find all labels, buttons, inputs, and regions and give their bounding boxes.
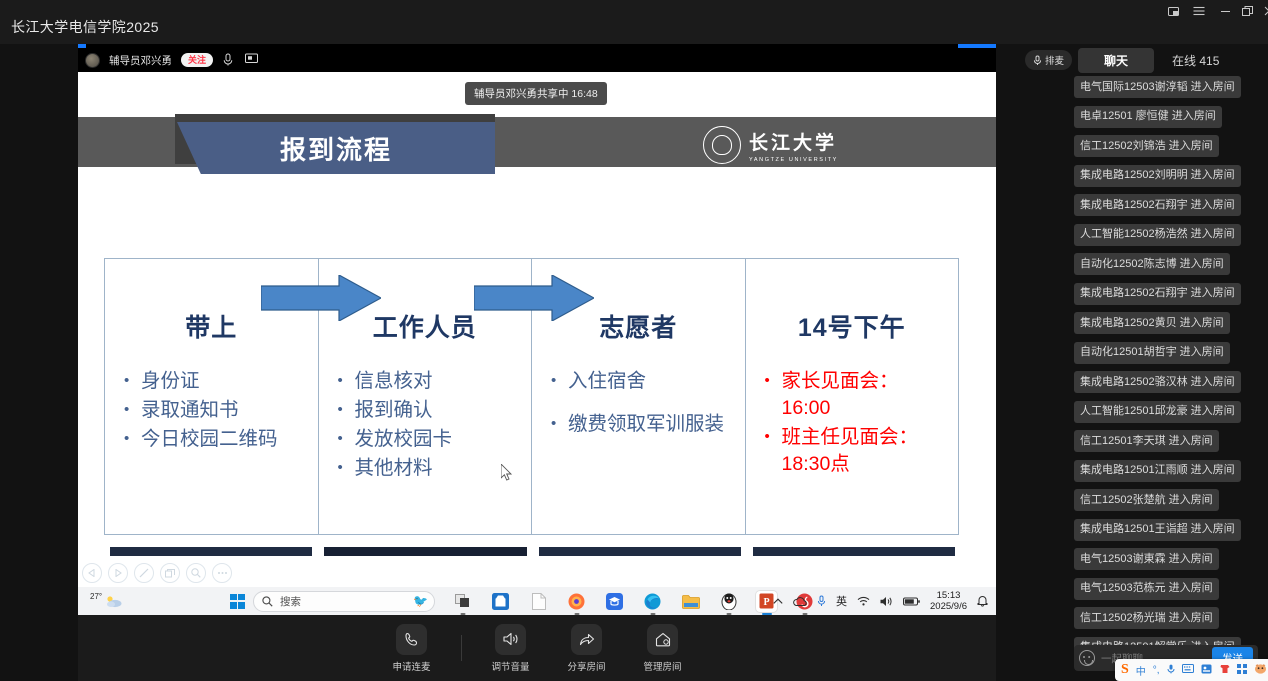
shared-screen-stage: 辅导员邓兴勇 关注 辅导员邓兴勇共享中 16:48 报到流程 长江大学 YANG… (78, 44, 996, 587)
notification-bell-icon[interactable] (977, 595, 988, 607)
chat-message: 集成电路12502骆汉林 进入房间 (1074, 371, 1241, 393)
chat-message: 集成电路12502石翔宇 进入房间 (1074, 283, 1241, 305)
title-bar: 长江大学电信学院2025 (0, 0, 1268, 44)
chat-message: 集成电路12502黄贝 进入房间 (1074, 312, 1230, 334)
sogou-logo-icon[interactable]: S (1121, 662, 1129, 678)
request-mic-button[interactable]: 申请连麦 (381, 624, 443, 673)
bottom-bar-segment (539, 547, 741, 556)
svg-text:P: P (763, 597, 769, 608)
chat-message-row: 电气国际12503谢淳韬 进入房间 (1074, 76, 1264, 106)
chat-tabs: 聊天 在线 415 (1078, 48, 1219, 73)
column-heading: 14号下午 (760, 308, 945, 344)
list-item: 报到确认 (355, 397, 518, 424)
bottom-bar-segment (110, 547, 312, 556)
microphone-icon[interactable] (817, 595, 826, 607)
taskbar-app-edge[interactable] (642, 591, 663, 612)
windows-taskbar: 27° 搜索 🐦 (78, 587, 996, 615)
flow-column-3: 志愿者 入住宿舍 缴费领取军训服装 (532, 259, 746, 534)
chat-message-row: 信工12502刘锦浩 进入房间 (1074, 135, 1264, 165)
flow-column-4: 14号下午 家长见面会：16:00 班主任见面会：18:30点 (746, 259, 959, 534)
chat-message: 电气12503范栋元 进入房间 (1074, 578, 1219, 600)
chat-panel: 排麦 聊天 在线 415 电气国际12503谢淳韬 进入房间电卓12501 廖恒… (996, 44, 1268, 681)
ime-mascot-icon[interactable] (1254, 663, 1267, 677)
button-label: 管理房间 (643, 659, 681, 673)
chat-message-row: 信工12502杨光瑞 进入房间 (1074, 607, 1264, 637)
list-item: 发放校园卡 (355, 426, 518, 453)
presenter-name: 辅导员邓兴勇 (109, 53, 172, 68)
chat-message: 电气国际12503谢淳韬 进入房间 (1074, 76, 1241, 98)
window-title: 长江大学电信学院2025 (11, 17, 159, 37)
chat-message-row: 信工12502张楚航 进入房间 (1074, 489, 1264, 519)
chat-message: 信工12502张楚航 进入房间 (1074, 489, 1219, 511)
list-item: 班主任见面会：18:30点 (782, 424, 945, 478)
flow-arrow-1 (261, 275, 381, 321)
meeting-app-window: 长江大学电信学院2025 辅导员邓兴勇 关注 (0, 0, 1268, 681)
onedrive-icon[interactable] (793, 597, 807, 606)
emoji-icon[interactable] (1079, 650, 1095, 666)
chat-message-row: 电气12503谢東霖 进入房间 (1074, 548, 1264, 578)
chevron-up-icon[interactable] (773, 598, 783, 605)
list-item: 家长见面会：16:00 (782, 368, 945, 422)
chat-message: 集成电路12501王诣超 进入房间 (1074, 519, 1241, 541)
weather-temperature: 27° (90, 592, 102, 601)
chat-message-row: 电气12503范栋元 进入房间 (1074, 578, 1264, 608)
chat-message: 电卓12501 廖恒健 进入房间 (1074, 106, 1222, 128)
taskbar-app-file-explorer[interactable] (680, 591, 701, 612)
chat-message-row: 人工智能12501邱龙豪 进入房间 (1074, 401, 1264, 431)
ime-keyboard-icon[interactable] (1182, 664, 1194, 676)
button-label: 申请连麦 (392, 659, 430, 673)
battery-icon[interactable] (903, 597, 920, 606)
slideshow-controls (82, 563, 232, 583)
sharing-status-toast: 辅导员邓兴勇共享中 16:48 (465, 82, 607, 105)
taskbar-app-task-view[interactable] (452, 591, 473, 612)
chat-message-row: 人工智能12502杨浩然 进入房间 (1074, 224, 1264, 254)
search-icon (262, 596, 273, 607)
share-icon (571, 624, 602, 655)
university-logo: 长江大学 YANGTZE UNIVERSITY (703, 126, 838, 164)
chat-message-row: 集成电路12502石翔宇 进入房间 (1074, 283, 1264, 313)
chat-message-row: 集成电路12502刘明明 进入房间 (1074, 165, 1264, 195)
ime-tools-icon[interactable] (1201, 664, 1212, 677)
chat-message-row: 集成电路12502黄贝 进入房间 (1074, 312, 1264, 342)
prev-slide-button[interactable] (82, 563, 102, 583)
list-item: 信息核对 (355, 368, 518, 395)
mic-queue-button[interactable]: 排麦 (1025, 50, 1072, 70)
chat-message: 信工12502杨光瑞 进入房间 (1074, 607, 1219, 629)
university-name-cn: 长江大学 (749, 128, 838, 155)
ime-indicator[interactable]: 英 (836, 593, 847, 609)
taskbar-app-firefox[interactable] (566, 591, 587, 612)
volume-icon[interactable] (880, 596, 893, 607)
column-items: 入住宿舍 缴费领取军训服装 (546, 368, 731, 438)
chat-message: 集成电路12502石翔宇 进入房间 (1074, 194, 1241, 216)
toolbar-divider (461, 635, 462, 661)
taskbar-app-notepad[interactable] (528, 591, 549, 612)
process-flow-table: 带上 身份证 录取通知书 今日校园二维码 工作人员 信息核对 报到确认 (104, 258, 959, 535)
chat-message: 信工12502刘锦浩 进入房间 (1074, 135, 1219, 157)
list-item: 其他材料 (355, 455, 518, 482)
wifi-icon[interactable] (857, 596, 870, 606)
chat-message-row: 集成电路12502石翔宇 进入房间 (1074, 194, 1264, 224)
chat-message: 自动化12502陈志博 进入房间 (1074, 253, 1230, 275)
search-input[interactable]: 搜索 🐦 (253, 591, 435, 612)
ime-skin-icon[interactable] (1219, 664, 1230, 677)
cloud-sun-icon (105, 594, 124, 608)
tab-online[interactable]: 在线 415 (1172, 52, 1219, 69)
slide-bottom-bars (110, 547, 955, 556)
all-slides-icon[interactable] (160, 563, 180, 583)
microphone-icon (1033, 55, 1042, 66)
ime-voice-icon[interactable] (1167, 664, 1175, 677)
mouse-cursor (501, 464, 514, 482)
microphone-icon[interactable] (222, 53, 236, 67)
taskbar-app-microsoft-store[interactable] (490, 591, 511, 612)
pen-tool-icon[interactable] (134, 563, 154, 583)
taskbar-center-group: 搜索 🐦 (230, 591, 815, 612)
bird-illustration-icon: 🐦 (413, 594, 428, 608)
queue-label: 排麦 (1045, 53, 1064, 67)
ime-floating-toolbar: S 中 °, (1115, 659, 1268, 681)
clock-date: 2025/9/6 (930, 601, 967, 612)
list-item: 今日校园二维码 (141, 426, 304, 453)
button-label: 调节音量 (491, 659, 529, 673)
column-items: 身份证 录取通知书 今日校园二维码 (119, 368, 304, 453)
list-item: 身份证 (141, 368, 304, 395)
bottom-bar-segment (753, 547, 955, 556)
chat-message: 集成电路12502刘明明 进入房间 (1074, 165, 1241, 187)
flow-arrow-2 (474, 275, 594, 321)
volume-icon (495, 624, 526, 655)
weather-widget[interactable]: 27° (90, 594, 124, 608)
chat-message: 人工智能12502杨浩然 进入房间 (1074, 224, 1241, 246)
chat-message: 人工智能12501邱龙豪 进入房间 (1074, 401, 1241, 423)
button-label: 分享房间 (567, 659, 605, 673)
ime-apps-icon[interactable] (1237, 664, 1247, 677)
chat-message-row: 自动化12502陈志博 进入房间 (1074, 253, 1264, 283)
meeting-action-toolbar: 申请连麦 调节音量 分享房间 管理房间 (78, 615, 996, 681)
university-seal-icon (703, 126, 741, 164)
list-item: 缴费领取军训服装 (568, 411, 731, 438)
next-slide-button[interactable] (108, 563, 128, 583)
column-items: 信息核对 报到确认 发放校园卡 其他材料 (333, 368, 518, 482)
chat-message-list[interactable]: 电气国际12503谢淳韬 进入房间电卓12501 廖恒健 进入房间信工12502… (1074, 76, 1264, 652)
slide-canvas[interactable]: 辅导员邓兴勇共享中 16:48 报到流程 长江大学 YANGTZE UNIVER… (78, 72, 996, 587)
taskbar-app-qq[interactable] (718, 591, 739, 612)
list-item: 入住宿舍 (568, 368, 731, 395)
chat-message: 信工12501李天琪 进入房间 (1074, 430, 1219, 452)
picture-in-picture-icon[interactable] (1160, 0, 1186, 22)
column-items: 家长见面会：16:00 班主任见面会：18:30点 (760, 368, 945, 478)
chat-message-row: 集成电路12501王诣超 进入房间 (1074, 519, 1264, 549)
zoom-tool-icon[interactable] (186, 563, 206, 583)
start-button[interactable] (230, 594, 245, 609)
list-item: 录取通知书 (141, 397, 304, 424)
chat-message-row: 自动化12501胡哲宇 进入房间 (1074, 342, 1264, 372)
avatar (85, 53, 100, 68)
bottom-bar-segment (324, 547, 526, 556)
chat-message-row: 信工12501李天琪 进入房间 (1074, 430, 1264, 460)
chat-message-row: 电卓12501 廖恒健 进入房间 (1074, 106, 1264, 136)
ime-chinese-mode-icon[interactable]: 中 (1136, 663, 1146, 678)
screen-share-icon[interactable] (245, 53, 259, 67)
page-title: 报到流程 (177, 122, 495, 174)
presenter-bar: 辅导员邓兴勇 关注 (78, 48, 996, 72)
adjust-volume-button[interactable]: 调节音量 (480, 624, 542, 673)
menu-icon[interactable] (1186, 0, 1212, 22)
chat-message-row: 集成电路12501江雨顺 进入房间 (1074, 460, 1264, 490)
ime-punctuation-icon[interactable]: °, (1153, 665, 1160, 676)
more-options-icon[interactable] (212, 563, 232, 583)
chat-message: 自动化12501胡哲宇 进入房间 (1074, 342, 1230, 364)
clock-time: 15:13 (930, 590, 967, 601)
taskbar-app-learning[interactable] (604, 591, 625, 612)
university-name-en: YANGTZE UNIVERSITY (749, 157, 838, 163)
chat-message: 电气12503谢東霖 进入房间 (1074, 548, 1219, 570)
system-tray: 英 15:13 2025/9/6 (773, 590, 988, 612)
taskbar-clock[interactable]: 15:13 2025/9/6 (930, 590, 967, 612)
phone-icon (396, 624, 427, 655)
share-room-button[interactable]: 分享房间 (556, 624, 618, 673)
follow-button[interactable]: 关注 (181, 53, 213, 67)
tab-chat[interactable]: 聊天 (1078, 48, 1154, 73)
chat-message: 集成电路12501江雨顺 进入房间 (1074, 460, 1241, 482)
chat-message-row: 集成电路12502骆汉林 进入房间 (1074, 371, 1264, 401)
search-placeholder: 搜索 (280, 594, 301, 609)
manage-room-button[interactable]: 管理房间 (632, 624, 694, 673)
close-icon[interactable] (1256, 0, 1268, 22)
home-settings-icon (647, 624, 678, 655)
